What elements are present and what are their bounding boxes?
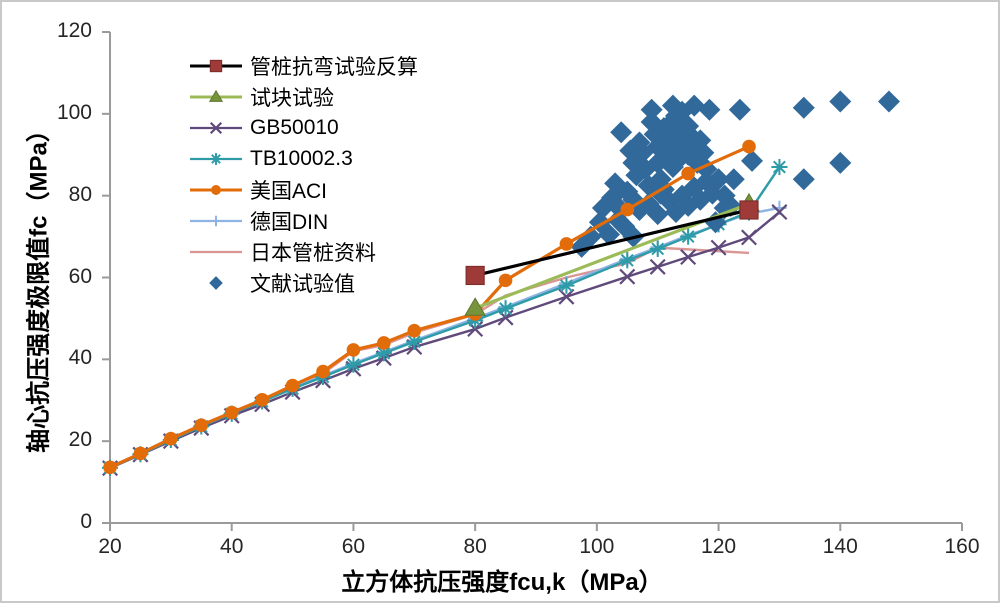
x-tick-label: 160 [932,535,992,559]
square-marker [740,201,758,219]
diamond-marker [793,97,815,119]
legend-item-label: TB10002.3 [244,147,353,171]
asterisk-marker [497,301,513,317]
plus-marker [211,215,222,226]
legend-item-label: 文献试验值 [244,268,355,298]
asterisk-marker [558,278,574,294]
diamond-marker [729,99,751,121]
y-axis-title: 轴心抗压强度极限值fc（MPa） [19,56,54,516]
diamond-marker [793,168,815,190]
plot-area [2,2,1000,605]
x-tick-label: 40 [202,535,262,559]
diamond-marker [209,276,223,290]
line-with-square-marker-icon [188,52,244,80]
circle-marker [347,343,361,357]
circle-marker [620,203,634,217]
square-marker [210,60,221,71]
diamond-marker [878,91,900,113]
chart-container: 02040608010012020406080100120140160 管桩抗弯… [0,0,1000,603]
diamond-marker [741,150,763,172]
diamond-marker [829,91,851,113]
x-marker [650,260,664,274]
diamond-marker [610,121,632,143]
asterisk-marker [345,357,361,373]
diamond-marker [698,99,720,121]
x-marker [681,250,695,264]
legend-item[interactable]: 美国ACI [188,174,438,205]
y-tick-label: 120 [32,19,92,43]
x-tick-label: 100 [567,535,627,559]
legend-item-label: GB50010 [244,116,339,140]
circle-marker [286,379,300,393]
circle-marker [560,237,574,251]
circle-marker [164,432,178,446]
x-tick-label: 20 [80,535,140,559]
asterisk-marker [771,159,787,175]
chart-legend: 管桩抗弯试验反算试块试验GB50010TB10002.3美国ACI德国DIN日本… [188,50,438,298]
line-with-asterisk-marker-icon [188,145,244,173]
circle-marker [377,336,391,350]
circle-marker [316,365,330,379]
x-tick-label: 140 [810,535,870,559]
line-with-triangle-marker-icon [188,83,244,111]
circle-marker [742,140,756,154]
legend-item-label: 日本管桩资料 [244,237,376,267]
circle-marker [103,461,117,475]
legend-item-label: 德国DIN [244,206,328,236]
circle-marker [134,447,148,461]
asterisk-marker [680,229,696,245]
legend-item[interactable]: 德国DIN [188,205,438,236]
circle-marker [211,185,221,195]
line-with-circle-marker-icon [188,176,244,204]
legend-item[interactable]: 管桩抗弯试验反算 [188,50,438,81]
line-with-plus-marker-icon [188,207,244,235]
circle-marker [499,274,513,288]
legend-item[interactable]: 日本管桩资料 [188,236,438,267]
x-axis-title: 立方体抗压强度fcu,k（MPa） [2,562,1000,597]
x-marker [742,230,756,244]
legend-item-label: 美国ACI [244,175,327,205]
square-marker [466,266,484,284]
legend-item[interactable]: GB50010 [188,112,438,143]
series-文献试验值 [571,91,900,258]
circle-marker [194,418,208,432]
circle-marker [681,167,695,181]
circle-marker [225,406,239,420]
legend-item[interactable]: TB10002.3 [188,143,438,174]
diamond-marker [641,99,663,121]
asterisk-marker [650,241,666,257]
x-tick-label: 80 [445,535,505,559]
legend-item[interactable]: 试块试验 [188,81,438,112]
diamond-marker [829,152,851,174]
legend-item[interactable]: 文献试验值 [188,267,438,298]
circle-marker [407,324,421,338]
x-tick-label: 120 [689,535,749,559]
legend-item-label: 试块试验 [244,82,334,112]
asterisk-marker [210,153,222,165]
legend-item-label: 管桩抗弯试验反算 [244,51,418,81]
x-marker [620,269,634,283]
circle-marker [255,393,269,407]
diamond-marker-icon [188,269,244,297]
asterisk-marker [619,252,635,268]
plain-line-icon [188,238,244,266]
x-tick-label: 60 [323,535,383,559]
line-with-x-marker-icon [188,114,244,142]
x-marker [711,240,725,254]
